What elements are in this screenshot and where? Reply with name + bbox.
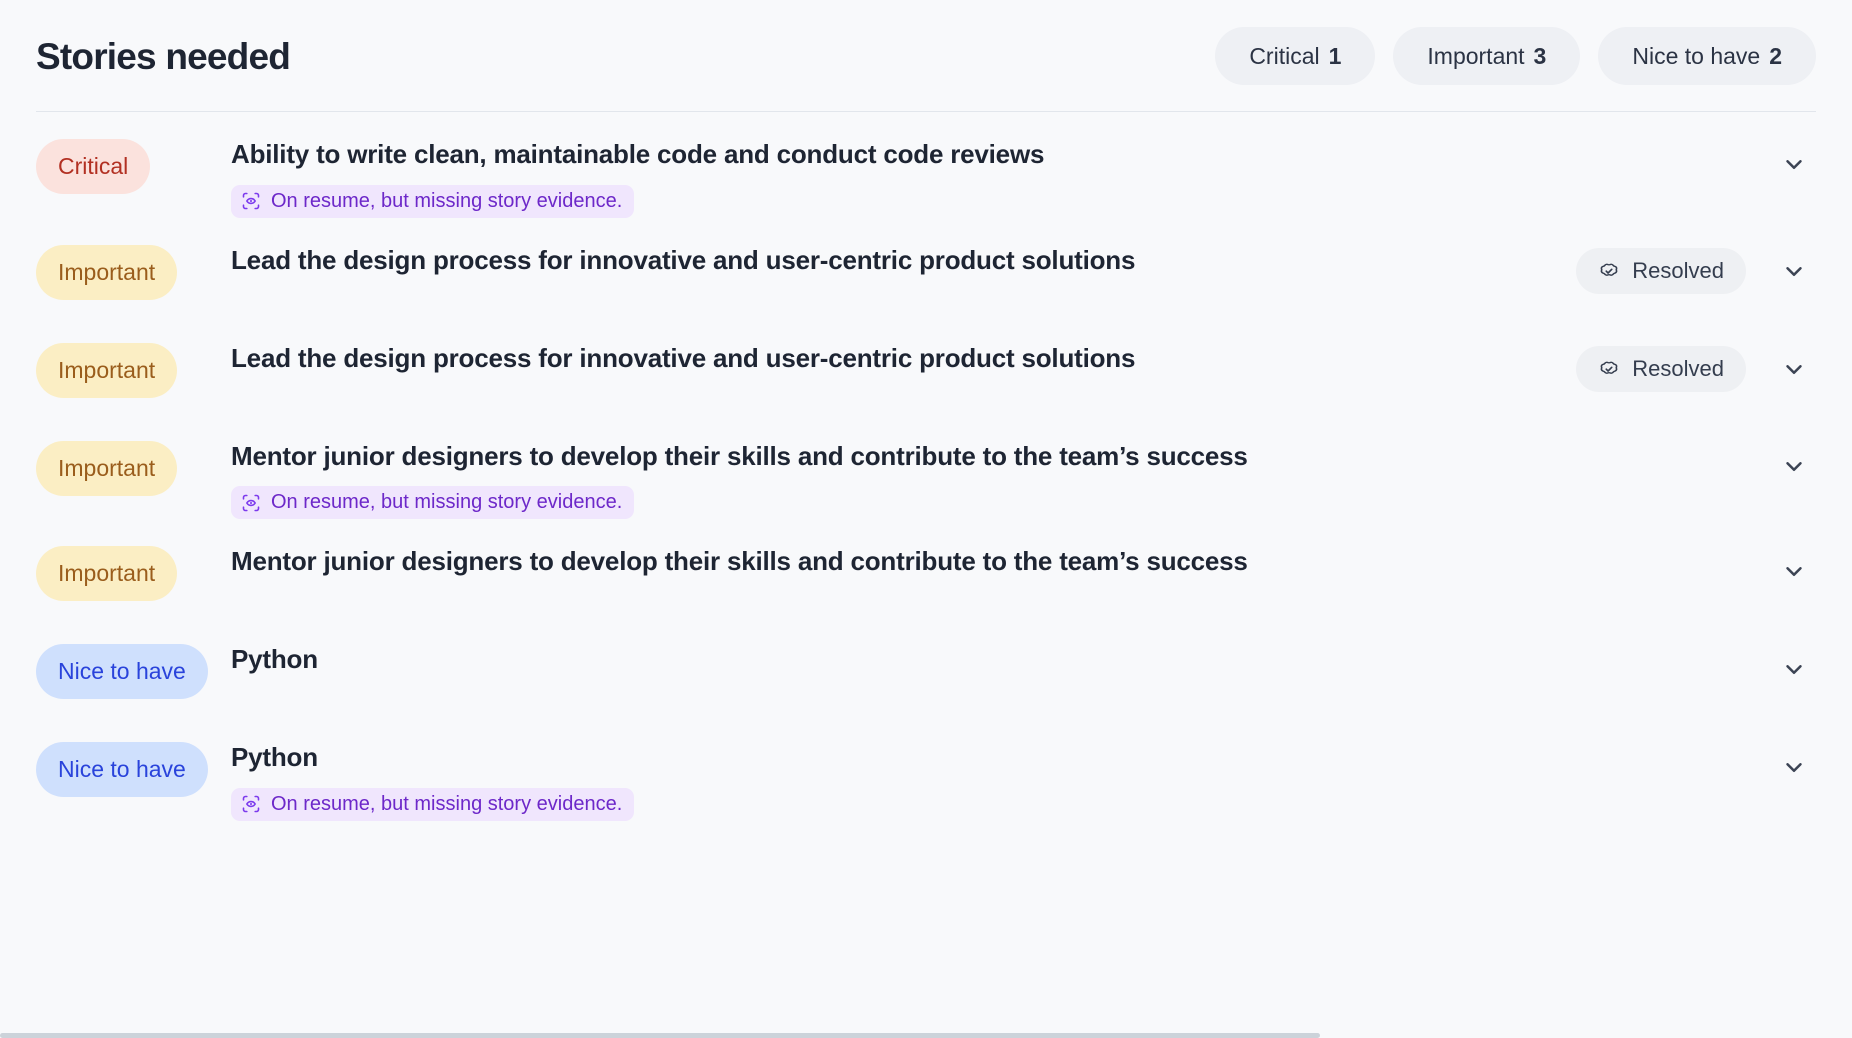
badge-check-icon — [1598, 358, 1620, 380]
chevron-down-icon[interactable] — [1772, 549, 1816, 593]
story-row[interactable]: ImportantMentor junior designers to deve… — [36, 519, 1816, 617]
story-row[interactable]: CriticalAbility to write clean, maintain… — [36, 112, 1816, 218]
priority-badge[interactable]: Nice to have — [36, 742, 208, 797]
horizontal-scrollbar-thumb[interactable] — [0, 1033, 1320, 1038]
story-title: Python — [231, 741, 1516, 774]
story-row[interactable]: ImportantLead the design process for inn… — [36, 316, 1816, 414]
priority-cell: Important — [36, 436, 231, 496]
status-badge-label: Resolved — [1632, 356, 1724, 382]
evidence-tag-label: On resume, but missing story evidence. — [271, 190, 622, 213]
story-row[interactable]: Nice to havePython — [36, 617, 1816, 715]
filter-chip-count: 2 — [1769, 43, 1782, 70]
story-row[interactable]: ImportantLead the design process for inn… — [36, 218, 1816, 316]
priority-cell: Important — [36, 541, 231, 601]
status-badge-resolved[interactable]: Resolved — [1576, 248, 1746, 294]
status-slot: Resolved — [1576, 346, 1746, 392]
story-row[interactable]: Nice to havePythonOn resume, but missing… — [36, 715, 1816, 821]
story-content: Lead the design process for innovative a… — [231, 338, 1516, 375]
story-content: PythonOn resume, but missing story evide… — [231, 737, 1516, 821]
evidence-tag[interactable]: On resume, but missing story evidence. — [231, 788, 634, 821]
filter-chip-count: 1 — [1329, 43, 1342, 70]
chevron-down-icon[interactable] — [1772, 647, 1816, 691]
priority-badge[interactable]: Critical — [36, 139, 150, 194]
story-content: Ability to write clean, maintainable cod… — [231, 134, 1516, 218]
chevron-down-icon[interactable] — [1772, 249, 1816, 293]
badge-check-icon — [1598, 260, 1620, 282]
story-content: Mentor junior designers to develop their… — [231, 541, 1516, 578]
evidence-tag-label: On resume, but missing story evidence. — [271, 491, 622, 514]
chevron-down-icon[interactable] — [1772, 347, 1816, 391]
story-title: Lead the design process for innovative a… — [231, 244, 1516, 277]
page-title: Stories needed — [36, 38, 290, 75]
story-title: Lead the design process for innovative a… — [231, 342, 1516, 375]
scan-eye-icon — [241, 191, 261, 211]
filter-chip-label: Critical — [1249, 43, 1319, 70]
row-actions — [1516, 541, 1816, 593]
horizontal-scrollbar[interactable] — [0, 1033, 1852, 1038]
priority-badge[interactable]: Important — [36, 245, 177, 300]
story-content: Lead the design process for innovative a… — [231, 240, 1516, 277]
row-actions — [1516, 436, 1816, 488]
priority-cell: Critical — [36, 134, 231, 194]
priority-badge[interactable]: Nice to have — [36, 644, 208, 699]
filter-chip-nice-to-have[interactable]: Nice to have2 — [1598, 27, 1816, 85]
priority-badge[interactable]: Important — [36, 441, 177, 496]
evidence-tag-label: On resume, but missing story evidence. — [271, 793, 622, 816]
evidence-tag[interactable]: On resume, but missing story evidence. — [231, 486, 634, 519]
priority-badge[interactable]: Important — [36, 546, 177, 601]
scan-eye-icon — [241, 794, 261, 814]
story-title: Ability to write clean, maintainable cod… — [231, 138, 1516, 171]
story-content: Python — [231, 639, 1516, 676]
row-actions — [1516, 639, 1816, 691]
status-slot: Resolved — [1576, 248, 1746, 294]
priority-cell: Important — [36, 338, 231, 398]
priority-cell: Important — [36, 240, 231, 300]
chevron-down-icon[interactable] — [1772, 142, 1816, 186]
evidence-tag[interactable]: On resume, but missing story evidence. — [231, 185, 634, 218]
filter-chip-label: Nice to have — [1632, 43, 1760, 70]
row-actions: Resolved — [1516, 338, 1816, 392]
chevron-down-icon[interactable] — [1772, 745, 1816, 789]
filter-chip-group: Critical1Important3Nice to have2 — [1215, 27, 1816, 85]
priority-cell: Nice to have — [36, 639, 231, 699]
filter-chip-count: 3 — [1534, 43, 1547, 70]
story-content: Mentor junior designers to develop their… — [231, 436, 1516, 520]
panel-header: Stories needed Critical1Important3Nice t… — [0, 0, 1852, 112]
filter-chip-label: Important — [1427, 43, 1524, 70]
scan-eye-icon — [241, 493, 261, 513]
story-list: CriticalAbility to write clean, maintain… — [0, 112, 1852, 821]
story-title: Mentor junior designers to develop their… — [231, 440, 1516, 473]
priority-cell: Nice to have — [36, 737, 231, 797]
stories-needed-panel: Stories needed Critical1Important3Nice t… — [0, 0, 1852, 1038]
story-row[interactable]: ImportantMentor junior designers to deve… — [36, 414, 1816, 520]
header-divider — [36, 111, 1816, 112]
status-badge-resolved[interactable]: Resolved — [1576, 346, 1746, 392]
row-actions — [1516, 134, 1816, 186]
filter-chip-important[interactable]: Important3 — [1393, 27, 1580, 85]
story-title: Python — [231, 643, 1516, 676]
chevron-down-icon[interactable] — [1772, 444, 1816, 488]
filter-chip-critical[interactable]: Critical1 — [1215, 27, 1375, 85]
story-title: Mentor junior designers to develop their… — [231, 545, 1516, 578]
row-actions — [1516, 737, 1816, 789]
status-badge-label: Resolved — [1632, 258, 1724, 284]
row-actions: Resolved — [1516, 240, 1816, 294]
priority-badge[interactable]: Important — [36, 343, 177, 398]
